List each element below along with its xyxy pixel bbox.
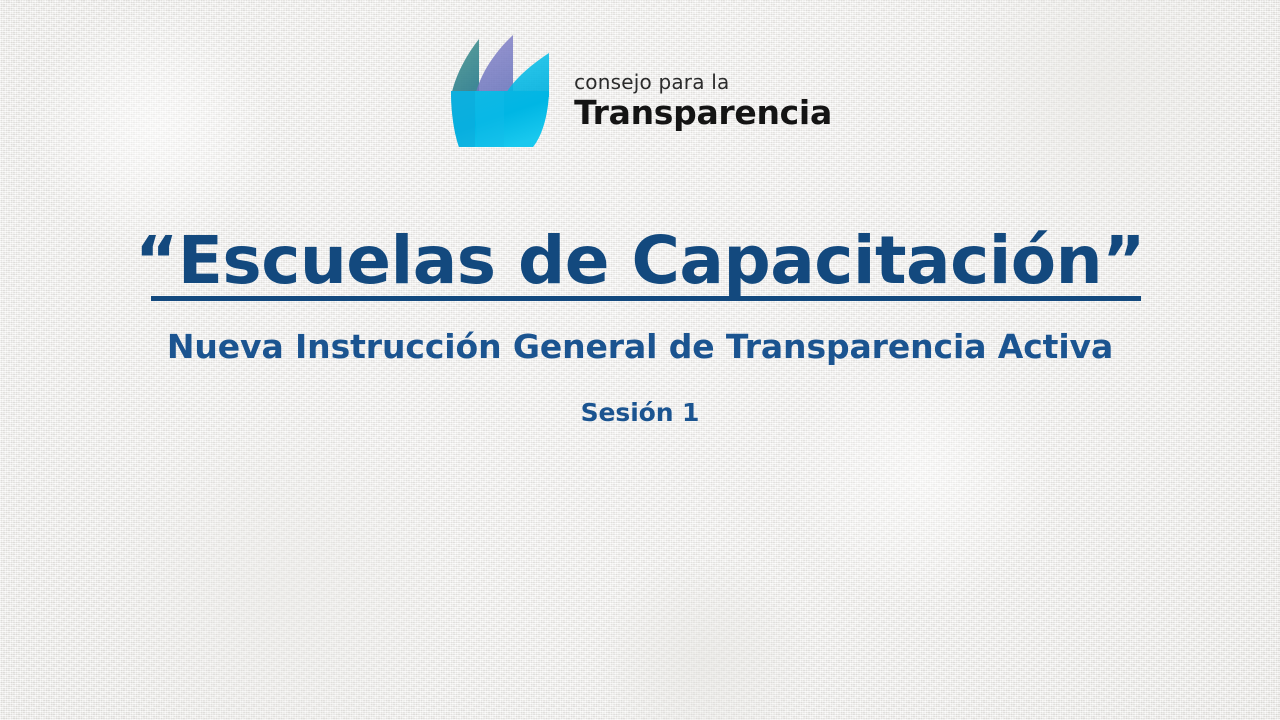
- logo-wordmark: consejo para la Transparencia: [574, 72, 832, 131]
- logo-line-consejo-para-la: consejo para la: [574, 72, 729, 93]
- presentation-slide: consejo para la Transparencia “Escuelas …: [0, 0, 1280, 720]
- logo-line-transparencia: Transparencia: [574, 95, 832, 131]
- slide-subtitle: Nueva Instrucción General de Transparenc…: [0, 327, 1280, 367]
- organization-logo: consejo para la Transparencia: [0, 33, 1280, 153]
- slide-session-label: Sesión 1: [0, 398, 1280, 428]
- title-underline: [151, 296, 1141, 301]
- title-underline-row: [0, 296, 1280, 301]
- slide-headline-group: “Escuelas de Capacitación” Nueva Instruc…: [0, 225, 1280, 428]
- page-title: “Escuelas de Capacitación”: [0, 225, 1280, 296]
- transparencia-logo-mark-icon: [448, 35, 556, 151]
